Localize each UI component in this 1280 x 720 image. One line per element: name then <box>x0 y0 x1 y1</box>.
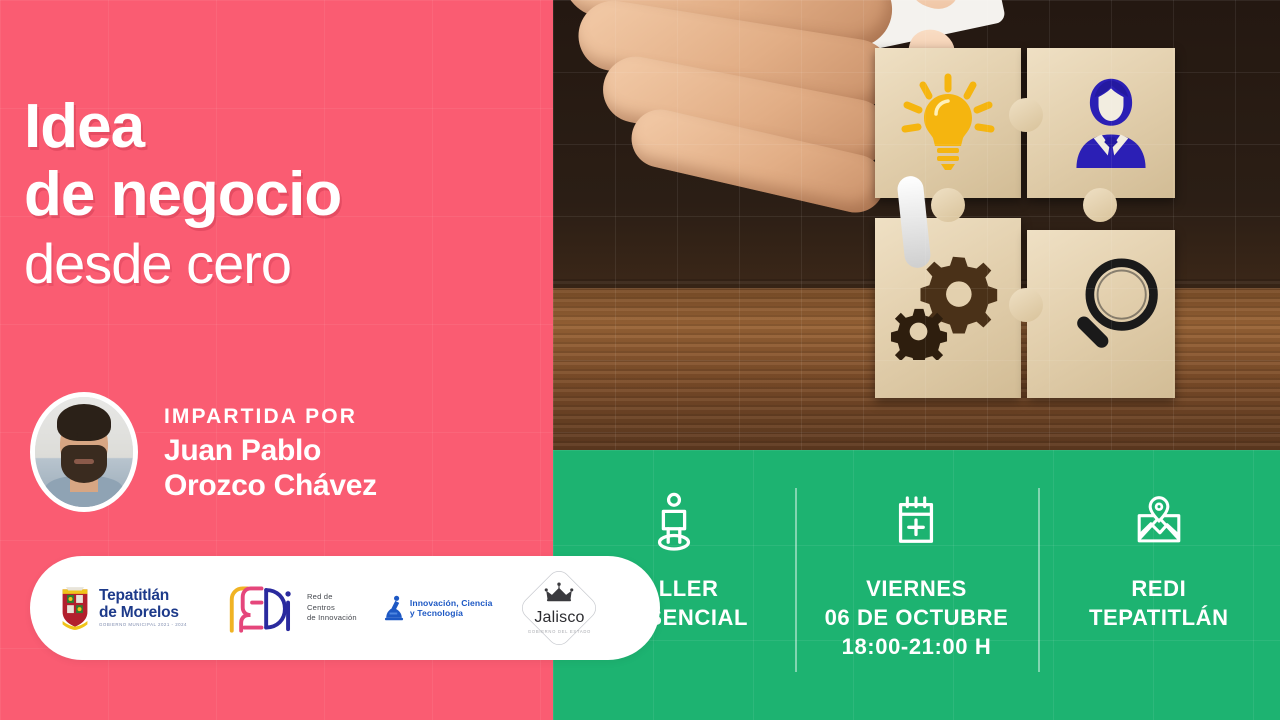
map-location-icon <box>1132 492 1186 552</box>
headline-line-2: de negocio <box>24 164 544 226</box>
presenter-name-line-1: Juan Pablo <box>164 433 377 468</box>
event-poster: Idea de negocio desde cero IMPARTIDA POR… <box>0 0 1280 720</box>
ict-text: Innovación, Ciencia y Tecnología <box>410 598 493 618</box>
detail-column-location: REDi TEPATITLÁN <box>1038 450 1280 720</box>
redi-text-line-3: de Innovación <box>307 613 357 623</box>
redi-text: Red de Centros de Innovación <box>307 592 357 623</box>
jalisco-crown-icon <box>542 582 576 602</box>
businessman-icon <box>1061 62 1161 180</box>
puzzle-knob <box>1009 288 1043 322</box>
headline-block: Idea de negocio desde cero <box>24 96 544 292</box>
jalisco-name: Jalisco <box>528 609 591 627</box>
detail-line: VIERNES <box>825 574 1009 603</box>
microscope-icon <box>383 594 405 622</box>
ict-line-1: Innovación, Ciencia <box>410 598 493 608</box>
logo-tepatitlan: Tepatitlán de Morelos GOBIERNO MUNICIPAL… <box>58 586 187 630</box>
standing-person-icon <box>647 492 701 552</box>
avatar-eye <box>90 433 101 437</box>
logo-redi: Red de Centros de Innovación <box>187 581 357 635</box>
redi-logo-icon <box>213 581 299 635</box>
tepatitlan-line-1: Tepatitlán <box>99 588 187 604</box>
tepatitlan-coat-of-arms-icon <box>58 586 92 630</box>
puzzle-knob <box>931 188 965 222</box>
puzzle-assembly <box>875 48 1175 398</box>
redi-text-line-2: Centros <box>307 603 357 613</box>
presenter-name-line-2: Orozco Chávez <box>164 468 377 503</box>
presenter-text: IMPARTIDA POR Juan Pablo Orozco Chávez <box>164 401 377 503</box>
calendar-plus-icon <box>889 492 943 552</box>
detail-text: REDi TEPATITLÁN <box>1089 574 1229 632</box>
detail-line: 18:00-21:00 H <box>825 632 1009 661</box>
detail-line: TEPATITLÁN <box>1089 603 1229 632</box>
detail-text: VIERNES 06 DE OCTUBRE 18:00-21:00 H <box>825 574 1009 661</box>
presenter-block: IMPARTIDA POR Juan Pablo Orozco Chávez <box>30 392 377 512</box>
logo-innovacion-ciencia-tecnologia: Innovación, Ciencia y Tecnología <box>383 594 493 622</box>
tepatitlan-text: Tepatitlán de Morelos GOBIERNO MUNICIPAL… <box>99 588 187 627</box>
avatar-beard <box>61 445 106 482</box>
avatar <box>30 392 138 512</box>
magnifier-icon <box>1057 248 1169 372</box>
detail-line: 06 DE OCTUBRE <box>825 603 1009 632</box>
headline-line-1: Idea <box>24 96 544 158</box>
event-details-row: TALLER PRESENCIAL VIERNES 06 DE OCTUBRE … <box>553 450 1280 720</box>
hero-photo <box>553 0 1280 450</box>
presenter-label: IMPARTIDA POR <box>164 405 377 429</box>
jalisco-subtitle: GOBIERNO DEL ESTADO <box>528 629 591 634</box>
avatar-mouth <box>74 459 94 465</box>
sponsor-logo-bar: Tepatitlán de Morelos GOBIERNO MUNICIPAL… <box>30 556 660 660</box>
tepatitlan-subtitle: GOBIERNO MUNICIPAL 2021 - 2024 <box>99 623 187 628</box>
avatar-hair <box>57 404 112 441</box>
headline-line-3: desde cero <box>24 236 544 292</box>
puzzle-knob <box>1009 98 1043 132</box>
detail-column-date: VIERNES 06 DE OCTUBRE 18:00-21:00 H <box>795 450 1037 720</box>
lightbulb-icon <box>891 64 1005 180</box>
ict-line-2: y Tecnología <box>410 608 493 618</box>
redi-text-line-1: Red de <box>307 592 357 602</box>
puzzle-knob <box>1083 188 1117 222</box>
avatar-eye <box>67 433 78 437</box>
detail-line: REDi <box>1089 574 1229 603</box>
jalisco-inner: Jalisco GOBIERNO DEL ESTADO <box>528 582 591 634</box>
logo-jalisco: Jalisco GOBIERNO DEL ESTADO <box>518 567 600 649</box>
tepatitlan-line-2: de Morelos <box>99 605 187 621</box>
